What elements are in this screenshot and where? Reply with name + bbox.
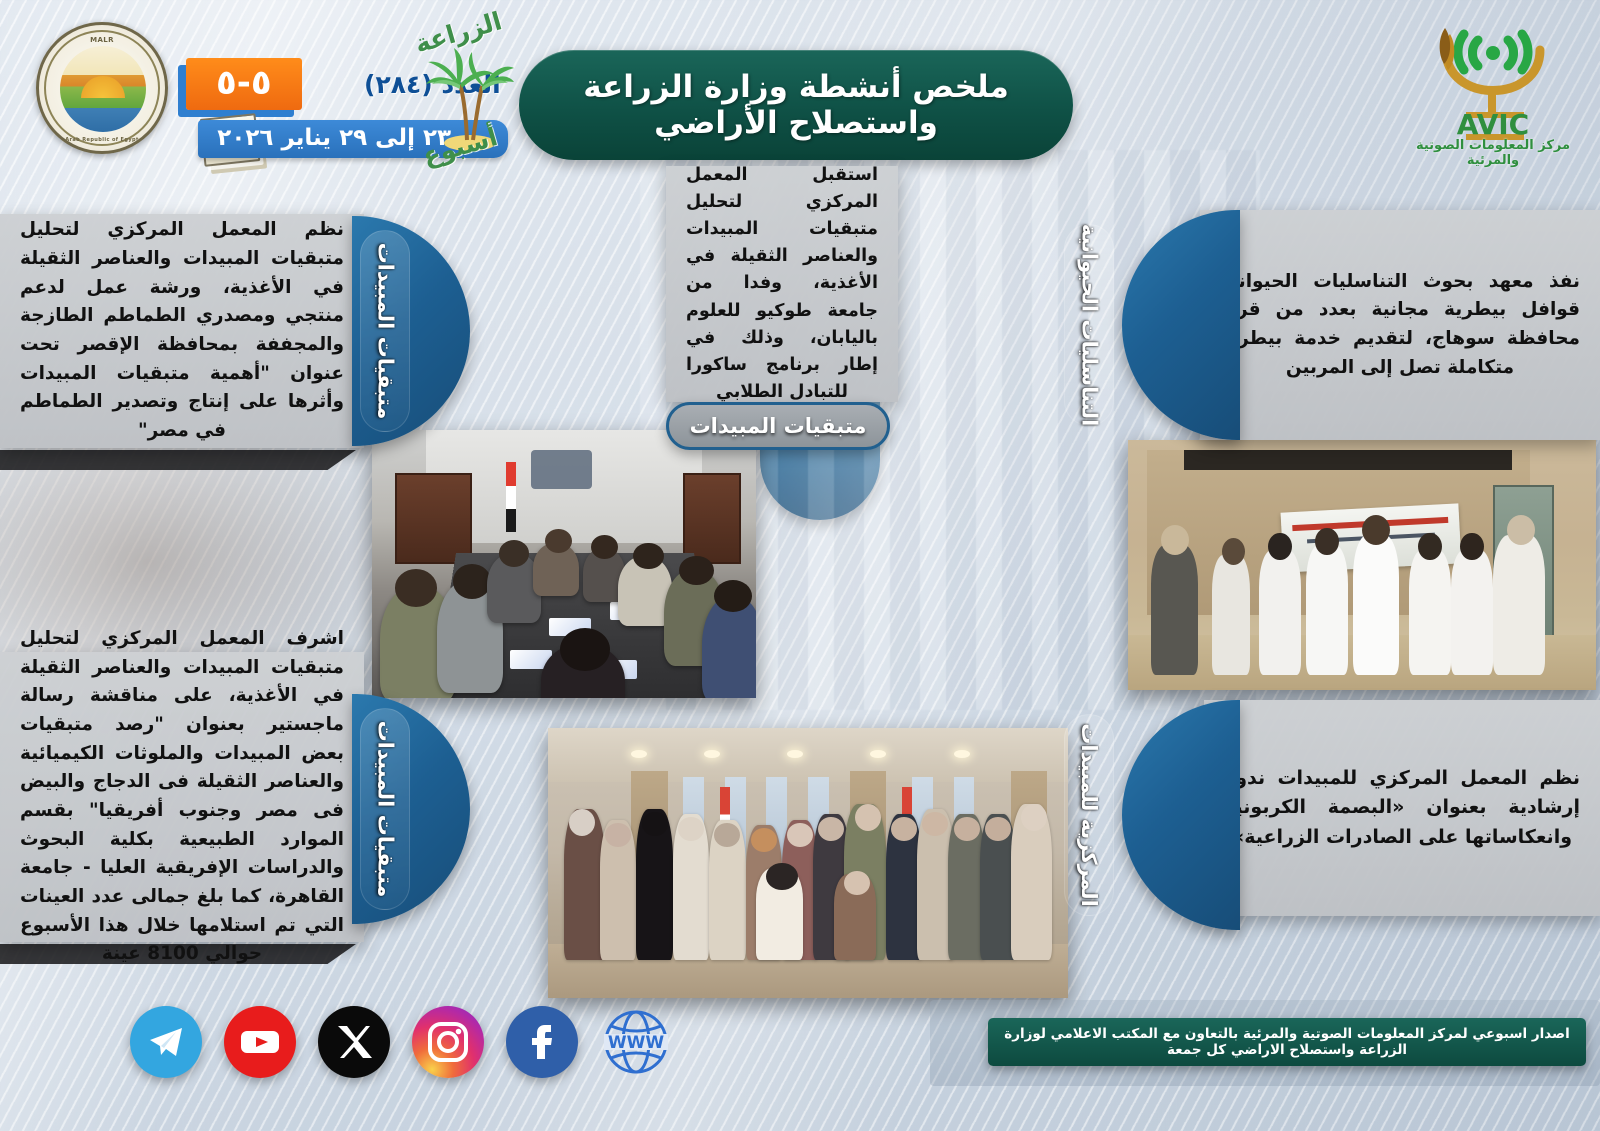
tab-pill: المركزية للمبيدات: [1064, 714, 1114, 916]
svg-text:WWW: WWW: [608, 1033, 665, 1053]
globe-icon: WWW: [600, 1006, 672, 1078]
svg-text:AVIC: AVIC: [1457, 108, 1529, 141]
tab-label: متبقيات المبيدات: [373, 721, 397, 898]
footer-note: اصدار اسبوعي لمركز المعلومات الصوتية وال…: [988, 1018, 1586, 1066]
ministry-logo-top-text: MALR: [39, 36, 165, 44]
ministry-logo: MALR Arab Republic of Egypt: [36, 22, 168, 154]
photo-tokyo-delegation-meeting: [372, 430, 756, 698]
card-masters-thesis-supervision: اشرف المعمل المركزي لتحليل متبقيات المبي…: [0, 652, 364, 942]
x-glyph: [334, 1022, 374, 1062]
card-animal-reproduction-convoys: نفذ معهد بحوث التناسليات الحيوانية قوافل…: [1200, 210, 1600, 440]
tab-shape: [1122, 210, 1240, 440]
telegram-icon[interactable]: [130, 1006, 202, 1078]
ministry-logo-bottom-text: Arab Republic of Egypt: [39, 137, 165, 143]
social-links-bar: WWW: [130, 1006, 672, 1078]
youtube-icon[interactable]: [224, 1006, 296, 1078]
tab-label: المركزية للمبيدات: [1077, 723, 1101, 907]
ministry-logo-emblem: [60, 46, 146, 132]
card-text: اشرف المعمل المركزي لتحليل متبقيات المبي…: [20, 625, 344, 969]
photo-veterinary-convoy-sohag: [1128, 440, 1596, 690]
website-icon[interactable]: WWW: [600, 1006, 672, 1078]
tab-label: متبقيات المبيدات: [373, 243, 397, 420]
card-text: نظم المعمل المركزي للمبيدات ندوة إرشادية…: [1224, 764, 1580, 852]
page-title: ملخص أنشطة وزارة الزراعة واستصلاح الأراض…: [519, 50, 1073, 160]
card-carbon-footprint-seminar: نظم المعمل المركزي للمبيدات ندوة إرشادية…: [1204, 700, 1600, 916]
youtube-play-glyph: [236, 1018, 284, 1066]
card-tokyo-delegation: استقبل المعمل المركزي لتحليل متبقيات الم…: [666, 166, 898, 402]
tab-pill: متبقيات المبيدات: [360, 708, 410, 910]
page-marker-badge: ٥-٥: [186, 58, 302, 110]
card-text: نفذ معهد بحوث التناسليات الحيوانية قوافل…: [1220, 268, 1580, 383]
card-text: نظم المعمل المركزي لتحليل متبقيات المبيد…: [20, 216, 344, 445]
agriculture-week-emblem: الزراعة أسبوع: [404, 14, 534, 184]
card-pesticide-residues-luxor: نظم المعمل المركزي لتحليل متبقيات المبيد…: [0, 214, 364, 448]
card-text: استقبل المعمل المركزي لتحليل متبقيات الم…: [686, 162, 878, 406]
tab-shape: [1122, 700, 1240, 930]
badge-pesticide-residues[interactable]: متبقيات المبيدات: [666, 402, 890, 450]
x-twitter-icon[interactable]: [318, 1006, 390, 1078]
tab-pill: التناسليات الحيوانية: [1064, 224, 1114, 426]
sun-icon: [81, 76, 125, 98]
facebook-f-glyph: [519, 1019, 565, 1065]
facebook-icon[interactable]: [506, 1006, 578, 1078]
telegram-paperplane-glyph: [144, 1020, 188, 1064]
avic-subtitle: مركز المعلومات الصوتية والمرئية: [1398, 138, 1588, 168]
panel-shadow-wedge-top: [0, 450, 356, 470]
tab-label: التناسليات الحيوانية: [1077, 224, 1101, 427]
avic-mark-icon: AVIC: [1398, 8, 1588, 150]
tab-pill: متبقيات المبيدات: [360, 230, 410, 432]
page-header: MALR Arab Republic of Egypt ٥-٥ العدد (٢…: [0, 0, 1600, 178]
instagram-icon[interactable]: [412, 1006, 484, 1078]
avic-logo: AVIC مركز المعلومات الصوتية والمرئية: [1398, 8, 1588, 170]
instagram-camera-glyph: [426, 1020, 470, 1064]
photo-group-portrait-hall: [548, 728, 1068, 998]
